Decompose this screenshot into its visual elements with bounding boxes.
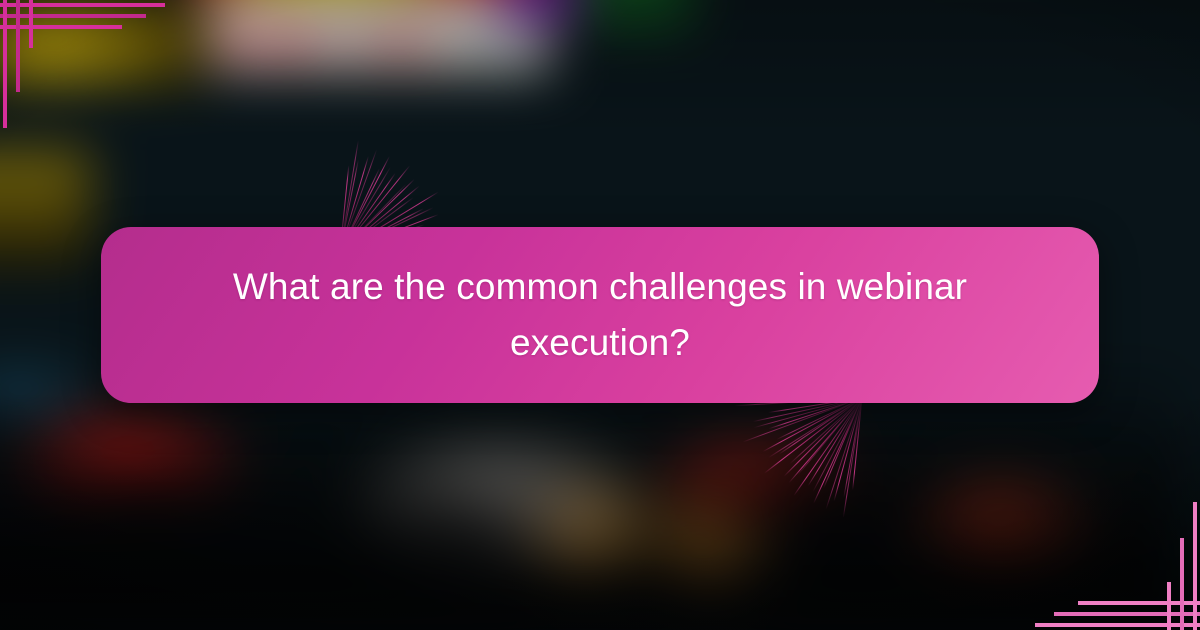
question-card: What are the common challenges in webina… [101, 227, 1099, 403]
question-text: What are the common challenges in webina… [220, 259, 980, 371]
social-card-canvas: What are the common challenges in webina… [0, 0, 1200, 630]
